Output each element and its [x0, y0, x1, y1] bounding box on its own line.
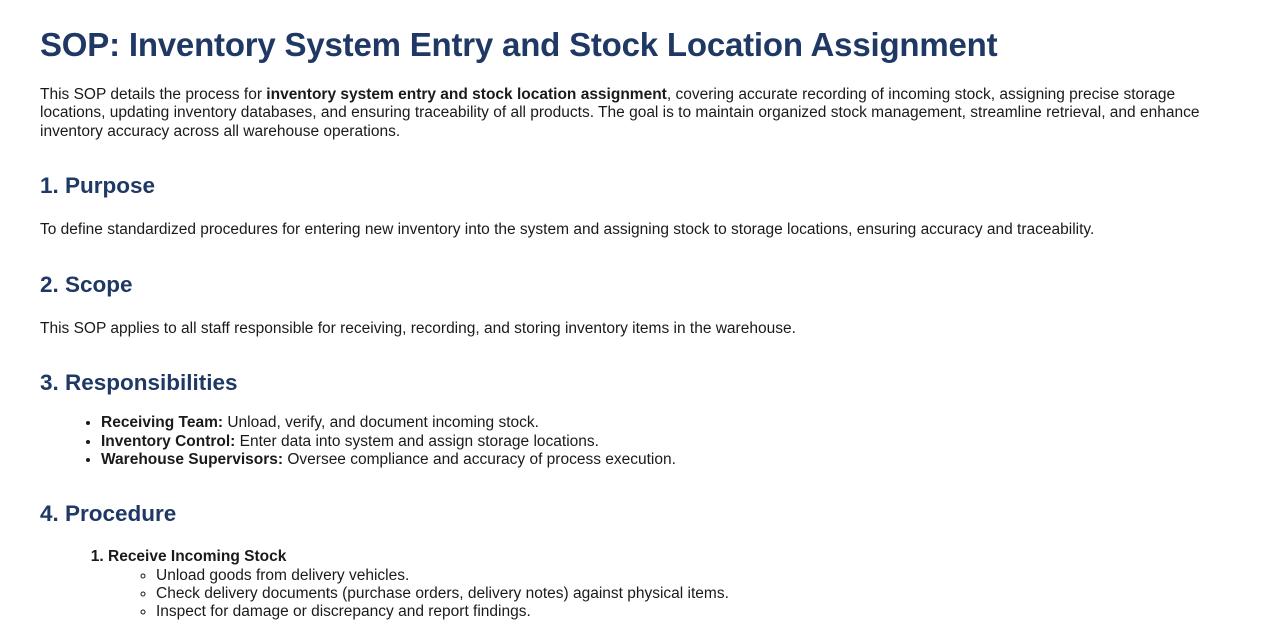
list-item: Unload goods from delivery vehicles. [156, 567, 1223, 585]
list-item: Receiving Team: Unload, verify, and docu… [101, 414, 1223, 432]
intro-text-part1: This SOP details the process for [40, 86, 266, 103]
purpose-text: To define standardized procedures for en… [40, 221, 1220, 240]
responsibilities-list: Receiving Team: Unload, verify, and docu… [40, 414, 1223, 469]
responsibility-detail: Unload, verify, and document incoming st… [223, 414, 539, 431]
document-page: SOP: Inventory System Entry and Stock Lo… [0, 0, 1263, 622]
intro-paragraph: This SOP details the process for invento… [40, 86, 1220, 142]
procedure-substep-list: Unload goods from delivery vehicles. Che… [108, 567, 1223, 622]
section-heading-purpose: 1. Purpose [40, 172, 1223, 199]
list-item: Warehouse Supervisors: Oversee complianc… [101, 451, 1223, 469]
list-item: Check delivery documents (purchase order… [156, 585, 1223, 603]
procedure-list: Receive Incoming Stock Unload goods from… [40, 548, 1223, 621]
responsibility-detail: Oversee compliance and accuracy of proce… [283, 451, 676, 468]
section-heading-responsibilities: 3. Responsibilities [40, 369, 1223, 396]
responsibility-role: Receiving Team: [101, 414, 223, 431]
responsibility-role: Inventory Control: [101, 433, 235, 450]
responsibility-role: Warehouse Supervisors: [101, 451, 283, 468]
procedure-step: Receive Incoming Stock Unload goods from… [108, 548, 1223, 621]
list-item: Inspect for damage or discrepancy and re… [156, 603, 1223, 621]
scope-text: This SOP applies to all staff responsibl… [40, 320, 1220, 339]
responsibility-detail: Enter data into system and assign storag… [235, 433, 599, 450]
section-heading-procedure: 4. Procedure [40, 500, 1223, 527]
list-item: Inventory Control: Enter data into syste… [101, 433, 1223, 451]
page-title: SOP: Inventory System Entry and Stock Lo… [40, 26, 1223, 64]
procedure-step-title: Receive Incoming Stock [108, 548, 286, 565]
intro-bold-phrase: inventory system entry and stock locatio… [266, 86, 667, 103]
section-heading-scope: 2. Scope [40, 271, 1223, 298]
